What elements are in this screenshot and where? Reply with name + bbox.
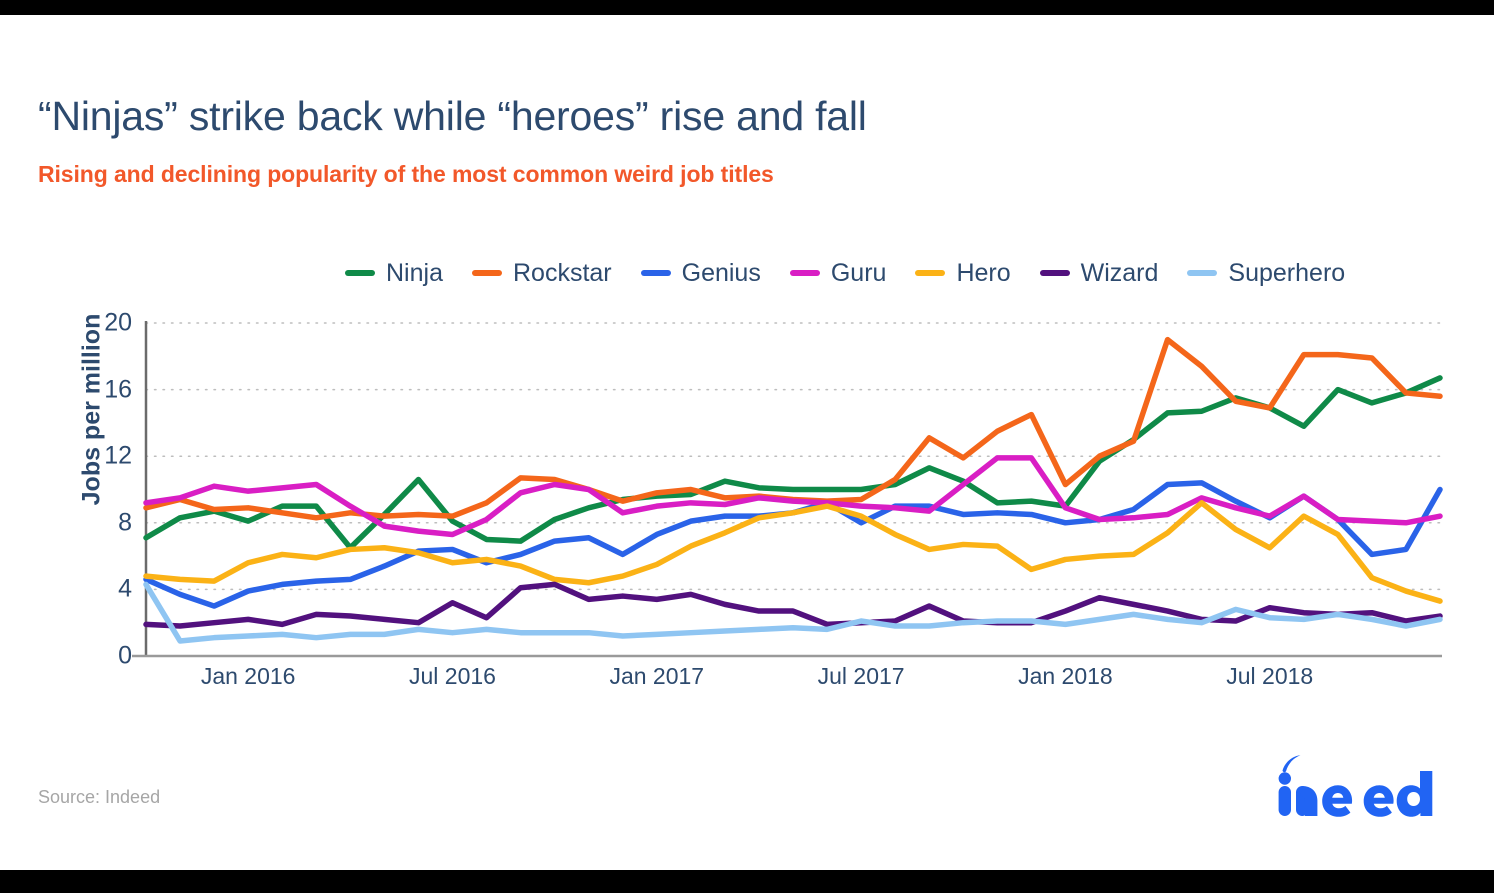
line-chart-svg	[0, 15, 1494, 870]
x-axis-tick-label: Jan 2018	[1018, 663, 1113, 690]
x-axis-tick-label: Jan 2016	[201, 663, 296, 690]
series-line-hero[interactable]	[146, 503, 1440, 601]
source-note: Source: Indeed	[38, 787, 160, 808]
x-axis-tick-label: Jan 2017	[609, 663, 704, 690]
series-line-wizard[interactable]	[146, 584, 1440, 626]
chart-plot-area: Jan 2016Jul 2016Jan 2017Jul 2017Jan 2018…	[0, 15, 1494, 870]
x-axis-tick-label: Jul 2017	[818, 663, 905, 690]
x-axis-tick-label: Jul 2016	[409, 663, 496, 690]
slide-canvas: “Ninjas” strike back while “heroes” rise…	[0, 15, 1494, 870]
indeed-logo	[1268, 753, 1458, 819]
x-axis-tick-label: Jul 2018	[1226, 663, 1313, 690]
